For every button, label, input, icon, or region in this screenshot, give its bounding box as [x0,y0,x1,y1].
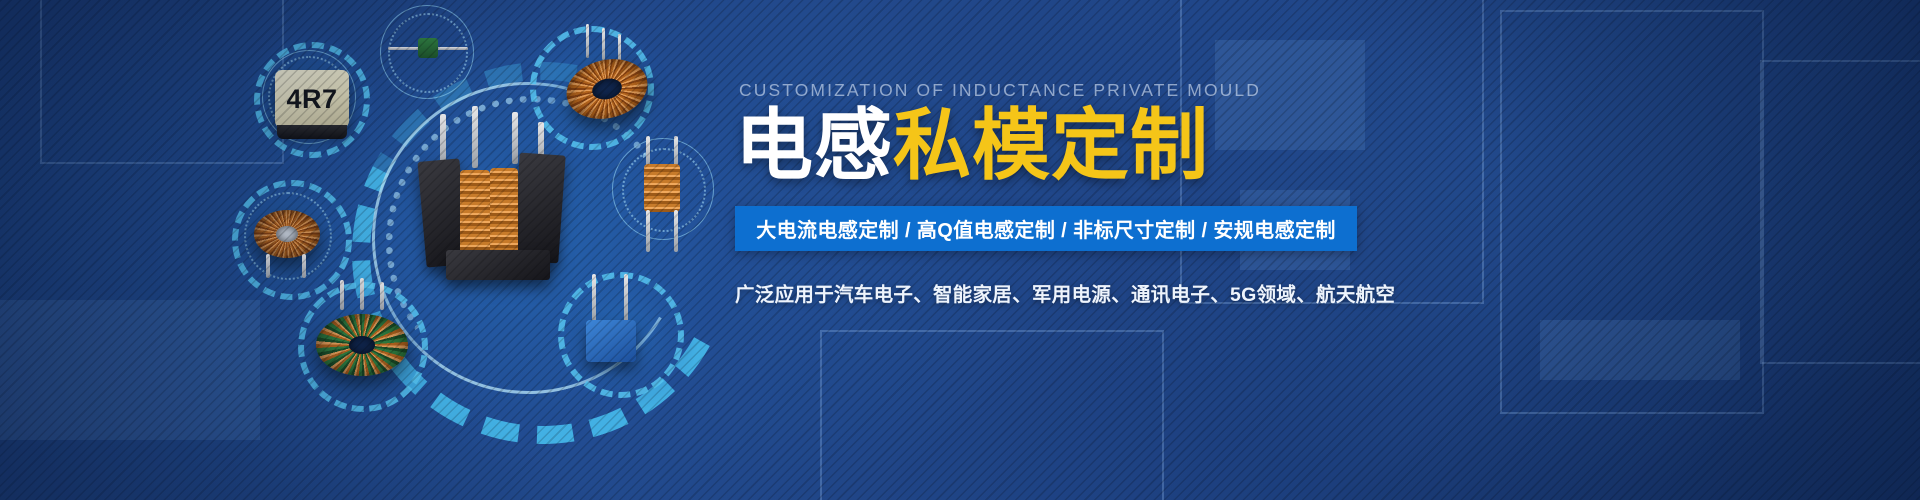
transformer-winding-2 [490,168,518,258]
transformer-pin-2 [472,106,478,168]
axial-coil-body [418,38,438,58]
flat-toroid-lead-2 [302,254,306,278]
rod-lead-top-1 [646,136,650,166]
toroid-lead-2 [602,28,605,60]
ghost-panel-4 [0,300,260,440]
services-bar[interactable]: 大电流电感定制 / 高Q值电感定制 / 非标尺寸定制 / 安规电感定制 [735,206,1357,251]
applications-line: 广泛应用于汽车电子、智能家居、军用电源、通讯电子、5G领域、航天航空 [735,278,1845,307]
flat-toroid-hole [276,226,298,242]
flat-toroid-lead-1 [266,254,270,278]
ghost-machine-frame-5 [820,330,1164,500]
flat-toroid-winding [254,210,320,258]
smd-chip-body: 4R7 [275,70,349,128]
product-green-toroid [298,282,428,402]
product-rod-choke [612,132,722,264]
blue-radial-lead-2 [624,274,628,322]
rod-choke-winding [644,164,680,212]
green-toroid-lead-3 [380,282,384,310]
product-axial-coil [380,5,480,105]
smd-marking-label: 4R7 [286,84,337,115]
inductor-customization-banner: 4R7 [0,0,1920,500]
green-toroid-winding [316,314,408,376]
banner-eyebrow-english: CUSTOMIZATION OF INDUCTANCE PRIVATE MOUL… [739,80,1845,101]
transformer-pin-3 [512,112,518,164]
axial-lead-right [436,47,468,50]
rod-lead-bottom-2 [674,210,678,252]
blue-radial-body [586,320,636,362]
ghost-panel-3 [1540,320,1740,380]
blue-radial-lead-1 [592,274,596,322]
toroid-lead-1 [586,24,589,58]
green-toroid-lead-1 [340,280,344,310]
toroid-hole-top [590,76,624,103]
product-transformer-cluster [412,112,592,282]
transformer-base [446,250,550,280]
services-bar-label: 大电流电感定制 / 高Q值电感定制 / 非标尺寸定制 / 安规电感定制 [756,214,1336,243]
green-toroid-lead-2 [360,278,364,310]
rod-lead-top-2 [674,136,678,166]
rod-lead-bottom-1 [646,210,650,252]
banner-headline: 电感私模定制 [735,107,1845,185]
product-blue-radial-inductor [558,272,684,402]
headline-white-part: 电感 [735,101,893,191]
transformer-core-right [512,153,565,264]
transformer-winding-1 [460,170,490,258]
axial-lead-left [388,47,422,50]
banner-text-block: CUSTOMIZATION OF INDUCTANCE PRIVATE MOUL… [735,80,1845,307]
green-toroid-hole [349,336,375,354]
product-smd-inductor-4r7: 4R7 [252,40,372,160]
headline-gold-part: 私模定制 [893,101,1209,191]
